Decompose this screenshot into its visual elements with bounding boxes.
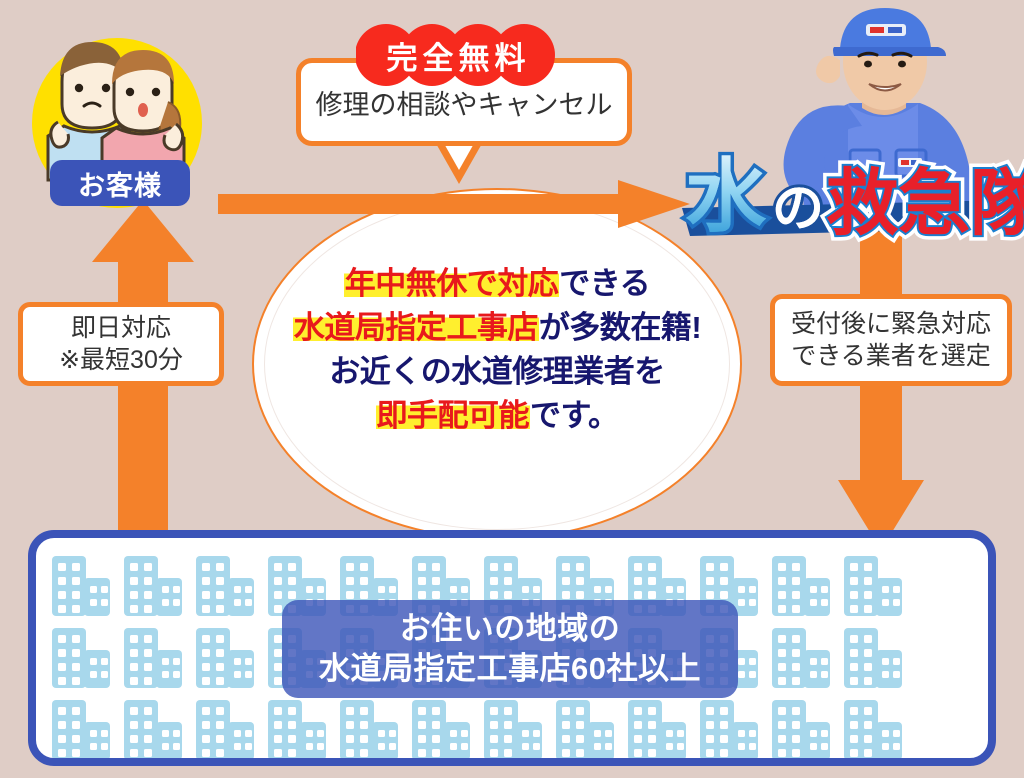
arrow-down-icon: [838, 230, 924, 550]
office-building-icon: [50, 698, 112, 762]
arrow-right-icon: [218, 180, 690, 228]
company-logo-icon: 水 水 の の 救急隊 救急隊 救急隊: [676, 150, 1024, 246]
customer-avatar: お客様: [18, 14, 214, 210]
svg-text:の: の: [772, 180, 824, 238]
office-building-icon: [122, 698, 184, 762]
arrow-up-icon: [92, 200, 194, 578]
building-row: [50, 698, 980, 762]
office-building-icon: [770, 626, 832, 690]
info-right-line1: 受付後に緊急対応: [791, 308, 991, 340]
area-badge: お住いの地域の 水道局指定工事店60社以上: [282, 600, 738, 698]
center-message-text: 年中無休で対応できる 水道局指定工事店が多数在籍! お近くの水道修理業者を 即手…: [236, 262, 758, 438]
center-line3: お近くの水道修理業者を: [329, 354, 665, 389]
office-building-icon: [842, 626, 904, 690]
office-building-icon: [410, 698, 472, 762]
infographic-canvas: 年中無休で対応できる 水道局指定工事店が多数在籍! お近くの水道修理業者を 即手…: [0, 0, 1024, 778]
office-building-icon: [194, 554, 256, 618]
area-badge-line1: お住いの地域の: [400, 609, 621, 649]
office-building-icon: [482, 698, 544, 762]
info-box-dispatch: 受付後に緊急対応 できる業者を選定: [770, 294, 1012, 386]
office-building-icon: [266, 698, 328, 762]
center-line4-rest: です。: [530, 398, 618, 433]
office-building-icon: [770, 554, 832, 618]
company-logo: 水 水 の の 救急隊 救急隊 救急隊: [676, 150, 1024, 246]
info-box-same-day: 即日対応 ※最短30分: [18, 302, 224, 386]
info-left-line1: 即日対応: [71, 312, 171, 344]
center-line1-rest: できる: [559, 266, 650, 301]
svg-text:救急隊: 救急隊: [826, 164, 1024, 244]
office-building-icon: [122, 554, 184, 618]
office-building-icon: [194, 698, 256, 762]
office-building-icon: [554, 698, 616, 762]
office-building-icon: [50, 554, 112, 618]
office-building-icon: [626, 698, 688, 762]
office-building-icon: [842, 698, 904, 762]
center-line2-highlight: 水道局指定工事店: [293, 310, 539, 345]
free-badge: 完全無料: [356, 22, 556, 88]
info-right-line2: できる業者を選定: [791, 340, 991, 372]
office-building-icon: [770, 698, 832, 762]
office-building-icon: [842, 554, 904, 618]
center-line2-rest: が多数在籍!: [539, 310, 701, 345]
info-left-line2: ※最短30分: [59, 344, 183, 376]
office-building-icon: [698, 698, 760, 762]
area-badge-line2: 水道局指定工事店60社以上: [319, 649, 701, 689]
office-building-icon: [122, 626, 184, 690]
bubble-tail-icon: [430, 140, 488, 184]
customer-badge-label: お客様: [78, 164, 162, 203]
office-building-icon: [194, 626, 256, 690]
center-line4-highlight: 即手配可能: [376, 398, 531, 433]
bubble-text: 修理の相談やキャンセル: [316, 83, 613, 122]
center-line1-highlight: 年中無休で対応: [344, 266, 560, 301]
svg-text:水: 水: [685, 152, 767, 241]
office-building-icon: [50, 626, 112, 690]
free-badge-label: 完全無料: [356, 22, 556, 88]
office-building-icon: [338, 698, 400, 762]
customer-badge: お客様: [50, 160, 190, 206]
